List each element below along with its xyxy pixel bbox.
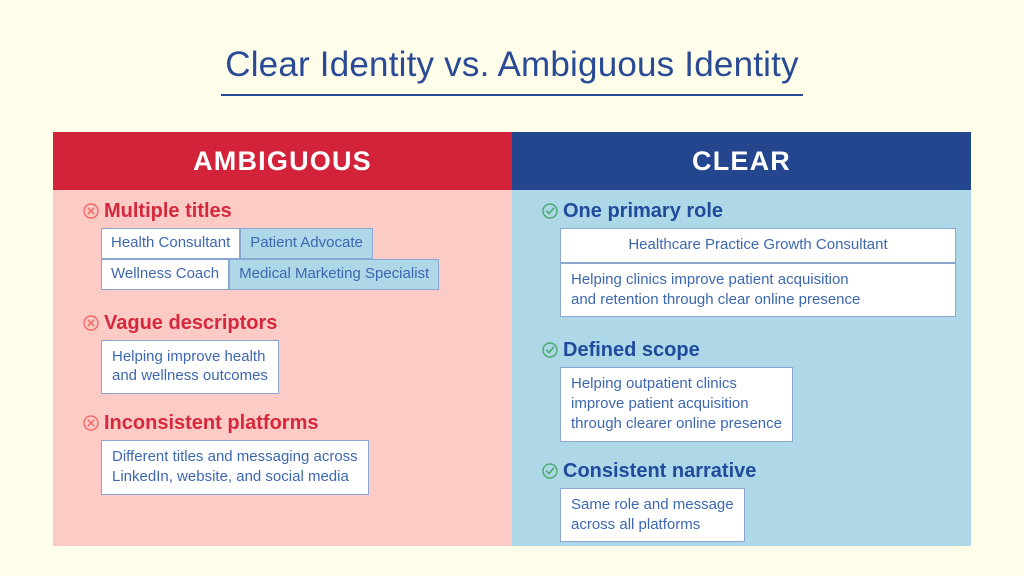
blurb-box: Helping outpatient clinics improve patie… — [560, 367, 793, 441]
circle-check-icon — [542, 342, 558, 358]
column-ambiguous: AMBIGUOUS Multiple titles Health Consult… — [53, 132, 512, 546]
column-clear: CLEAR One primary role Healthcare Practi… — [512, 132, 971, 546]
comparison-table: AMBIGUOUS Multiple titles Health Consult… — [53, 132, 971, 546]
section-heading-row: One primary role — [542, 200, 957, 222]
tag-item[interactable]: Health Consultant — [101, 228, 240, 259]
blurb-line: improve patient acquisition — [571, 394, 782, 414]
blurb-box: Same role and message across all platfor… — [560, 488, 745, 543]
blurb-group: Same role and message across all platfor… — [542, 488, 957, 543]
section-heading-label: Defined scope — [563, 339, 700, 361]
circle-check-icon — [542, 463, 558, 479]
tag-item[interactable]: Patient Advocate — [240, 228, 373, 259]
blurb-line: across all platforms — [571, 515, 734, 535]
circle-cross-icon — [83, 203, 99, 219]
blurb-box: Different titles and messaging across Li… — [101, 440, 369, 495]
section-heading-label: One primary role — [563, 200, 723, 222]
tag-row: Wellness Coach Medical Marketing Special… — [101, 259, 498, 290]
blurb-line: Helping improve health — [112, 347, 268, 367]
blurb-group: Healthcare Practice Growth Consultant He… — [542, 228, 957, 317]
primary-role-box: Healthcare Practice Growth Consultant — [560, 228, 956, 263]
blurb-line: and wellness outcomes — [112, 366, 268, 386]
spacer — [512, 317, 971, 339]
section-heading-label: Consistent narrative — [563, 460, 756, 482]
section-heading-label: Inconsistent platforms — [104, 412, 318, 434]
blurb-group: Helping outpatient clinics improve patie… — [542, 367, 957, 441]
blurb-line: through clearer online presence — [571, 414, 782, 434]
tag-item[interactable]: Wellness Coach — [101, 259, 229, 290]
blurb-group: Helping improve health and wellness outc… — [83, 340, 498, 395]
blurb-line: Same role and message — [571, 495, 734, 515]
section-vague-descriptors: Vague descriptors Helping improve health… — [53, 312, 512, 395]
section-heading-row: Defined scope — [542, 339, 957, 361]
page-title: Clear Identity vs. Ambiguous Identity — [221, 46, 803, 96]
section-inconsistent-platforms: Inconsistent platforms Different titles … — [53, 412, 512, 495]
section-consistent-narrative: Consistent narrative Same role and messa… — [512, 460, 971, 543]
circle-cross-icon — [83, 315, 99, 331]
blurb-line: and retention through clear online prese… — [571, 290, 945, 310]
column-header-ambiguous: AMBIGUOUS — [53, 132, 512, 190]
blurb-line: Helping outpatient clinics — [571, 374, 782, 394]
column-body-clear: One primary role Healthcare Practice Gro… — [512, 190, 971, 546]
circle-cross-icon — [83, 415, 99, 431]
column-header-clear: CLEAR — [512, 132, 971, 190]
blurb-box: Helping clinics improve patient acquisit… — [560, 263, 956, 318]
section-defined-scope: Defined scope Helping outpatient clinics… — [512, 339, 971, 441]
blurb-box: Helping improve health and wellness outc… — [101, 340, 279, 395]
circle-check-icon — [542, 203, 558, 219]
blurb-line: LinkedIn, website, and social media — [112, 467, 358, 487]
column-body-ambiguous: Multiple titles Health Consultant Patien… — [53, 190, 512, 546]
page-title-container: Clear Identity vs. Ambiguous Identity — [0, 46, 1024, 96]
tag-item[interactable]: Medical Marketing Specialist — [229, 259, 439, 290]
spacer — [53, 394, 512, 412]
spacer — [53, 290, 512, 312]
spacer — [512, 442, 971, 460]
section-heading-row: Vague descriptors — [83, 312, 498, 334]
section-heading-label: Multiple titles — [104, 200, 232, 222]
section-one-primary-role: One primary role Healthcare Practice Gro… — [512, 200, 971, 317]
primary-role-label: Healthcare Practice Growth Consultant — [571, 235, 945, 255]
tag-row: Health Consultant Patient Advocate — [101, 228, 498, 259]
tag-group: Health Consultant Patient Advocate Welln… — [83, 228, 498, 290]
section-heading-label: Vague descriptors — [104, 312, 277, 334]
section-heading-row: Inconsistent platforms — [83, 412, 498, 434]
section-heading-row: Multiple titles — [83, 200, 498, 222]
section-heading-row: Consistent narrative — [542, 460, 957, 482]
blurb-line: Different titles and messaging across — [112, 447, 358, 467]
section-multiple-titles: Multiple titles Health Consultant Patien… — [53, 200, 512, 290]
blurb-group: Different titles and messaging across Li… — [83, 440, 498, 495]
blurb-line: Helping clinics improve patient acquisit… — [571, 270, 945, 290]
